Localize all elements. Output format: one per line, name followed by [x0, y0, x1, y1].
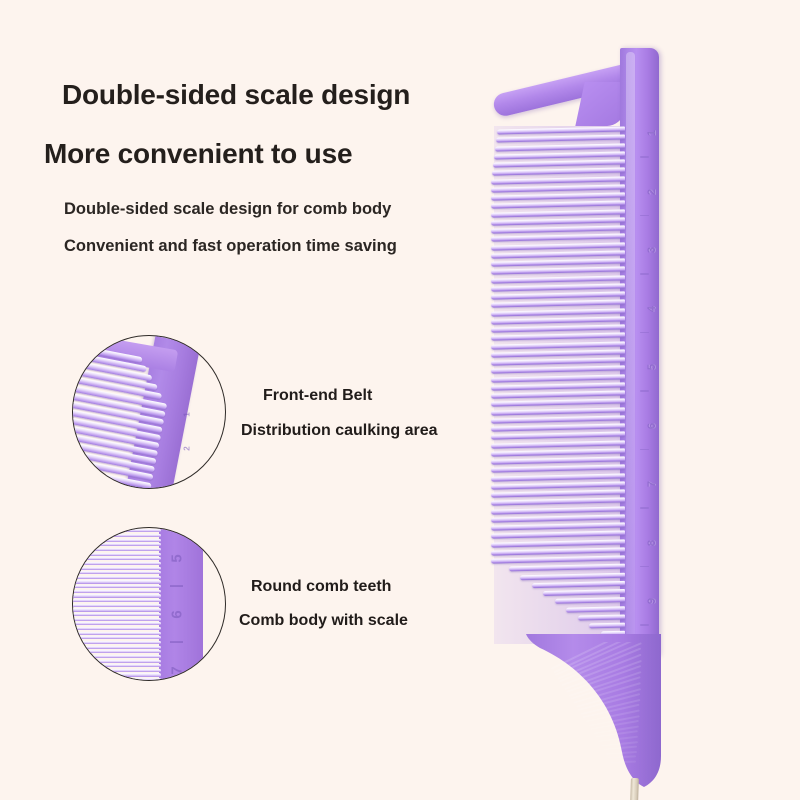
comb-tooth: [493, 159, 625, 167]
inset-round-comb-teeth: 5|6|7|: [72, 527, 226, 681]
comb-fine-tooth-closeup: [72, 669, 161, 672]
ruler-number: 4: [646, 306, 658, 312]
comb-fine-tooth-closeup: [72, 585, 161, 588]
ruler-number-closeup: 7: [169, 666, 186, 674]
comb-tooth: [495, 143, 625, 151]
comb-tooth: [496, 135, 625, 143]
comb-teeth: [497, 128, 625, 641]
comb-fine-tooth-closeup: [72, 534, 161, 537]
comb-fine-tooth-closeup: [72, 632, 161, 635]
callout-round-comb-teeth-subtitle: Comb body with scale: [239, 612, 408, 630]
comb-tooth: [491, 390, 625, 398]
callout-round-comb-teeth-title: Round comb teeth: [251, 578, 391, 596]
tail-ridge: [608, 756, 636, 759]
ruler-number-closeup: 3: [183, 480, 192, 484]
comb-tooth: [491, 308, 625, 316]
comb-tooth: [497, 126, 625, 134]
comb-tooth: [491, 201, 625, 209]
comb-tooth: [491, 456, 625, 464]
comb-fine-tooth-closeup: [72, 636, 161, 639]
comb-fine-tooth-closeup: [72, 539, 161, 542]
comb-tooth: [491, 539, 625, 547]
comb-tooth: [491, 267, 625, 275]
comb-tooth: [491, 522, 625, 530]
comb-tooth: [491, 250, 625, 258]
comb-fine-tooth-closeup: [72, 599, 161, 602]
ruler-number-closeup: 5: [169, 554, 186, 562]
comb-fine-tooth-closeup: [72, 608, 161, 611]
subtitle-line1: Double-sided scale design for comb body: [64, 200, 391, 219]
comb-tooth: [491, 349, 625, 357]
comb-tooth: [491, 506, 625, 514]
comb-tooth: [491, 432, 625, 440]
ruler-tick: [640, 390, 649, 392]
comb-tooth: [555, 597, 625, 604]
comb-fine-tooth-closeup: [72, 571, 161, 574]
comb-tooth: [491, 489, 625, 497]
tail-ridge: [557, 642, 641, 679]
comb-fine-teeth-closeup: [72, 527, 161, 681]
ruler-number-closeup: 1: [183, 412, 192, 416]
comb-tooth: [491, 258, 625, 266]
comb-tooth: [491, 242, 625, 250]
comb-tooth: [491, 399, 625, 407]
comb-tooth: [492, 168, 625, 176]
comb-tooth: [491, 547, 625, 555]
comb-tooth: [491, 324, 625, 332]
comb-tooth: [491, 333, 625, 341]
ruler-number-closeup: 2: [183, 446, 192, 450]
comb-tooth: [494, 151, 625, 159]
comb-tooth: [491, 415, 625, 423]
comb-fine-tooth-closeup: [72, 673, 161, 676]
comb-metal-pin: [629, 778, 639, 800]
comb-tooth: [491, 514, 625, 522]
ruler-number: 5: [646, 364, 658, 370]
comb-fine-tooth-closeup: [72, 594, 161, 597]
comb-tooth: [491, 300, 625, 308]
ruler-tick: [640, 332, 649, 334]
comb-fine-tooth-closeup: [72, 529, 161, 532]
comb-tooth: [491, 275, 625, 283]
ruler-number: 9: [646, 598, 658, 604]
inset-front-end-belt-image: 123: [73, 336, 225, 488]
comb-fine-tooth-closeup: [72, 664, 161, 667]
ruler-number: 6: [646, 423, 658, 429]
comb-tooth: [491, 531, 625, 539]
subtitle-line2: Convenient and fast operation time savin…: [64, 237, 397, 256]
comb-tooth: [491, 498, 625, 506]
comb-fine-tooth-closeup: [72, 660, 161, 663]
inset-front-end-belt: 123: [72, 335, 226, 489]
ruler-tick-closeup: |: [167, 584, 183, 588]
comb-fine-tooth-closeup: [72, 650, 161, 653]
comb-fine-tooth-closeup: [72, 576, 161, 579]
comb-fine-tooth-closeup: [72, 553, 161, 556]
comb-tooth: [491, 440, 625, 448]
comb-fine-tooth-closeup: [72, 527, 161, 528]
comb-tooth: [491, 465, 625, 473]
ruler-tick: [640, 624, 649, 626]
product-infographic: Double-sided scale design More convenien…: [0, 0, 800, 800]
ruler-tick: [640, 215, 649, 217]
comb-fine-tooth-closeup: [72, 590, 161, 593]
comb-tooth: [491, 473, 625, 481]
comb-tooth: [491, 407, 625, 415]
comb-fine-tooth-closeup: [72, 618, 161, 621]
comb-fine-tooth-closeup: [72, 655, 161, 658]
page-title-line2: More convenient to use: [44, 138, 352, 170]
comb-ruler-scale: 123456789: [620, 48, 659, 656]
ruler-number: 3: [646, 247, 658, 253]
comb-tooth: [491, 481, 625, 489]
comb-fine-tooth-closeup: [72, 613, 161, 616]
comb-tail-ridges: [546, 642, 650, 770]
comb-fine-tooth-closeup: [72, 548, 161, 551]
comb-product-image: 123456789: [470, 30, 700, 800]
comb-fine-tooth-closeup: [72, 604, 161, 607]
comb-tooth: [532, 581, 626, 588]
comb-tooth: [491, 176, 625, 184]
comb-tooth: [491, 423, 625, 431]
comb-tooth: [508, 564, 625, 572]
comb-tooth: [491, 357, 625, 365]
inset-round-comb-teeth-image: 5|6|7|: [73, 528, 225, 680]
comb-fine-tooth-closeup: [72, 641, 161, 644]
tail-ridge: [603, 746, 637, 750]
comb-tooth: [491, 448, 625, 456]
comb-fine-tooth-closeup: [72, 562, 161, 565]
ruler-tick-closeup: |: [167, 640, 183, 644]
comb-tooth: [491, 291, 625, 299]
comb-fine-tooth-closeup: [72, 678, 161, 681]
ruler-number: 7: [646, 481, 658, 487]
ruler-tick: [640, 449, 649, 451]
ruler-number: 1: [646, 130, 658, 136]
tail-ridge: [611, 761, 636, 763]
comb-tooth: [491, 382, 625, 390]
comb-fine-tooth-closeup: [72, 622, 161, 625]
comb-tooth: [520, 572, 625, 580]
ruler-tick: [640, 273, 649, 275]
comb-fine-tooth-closeup: [72, 627, 161, 630]
comb-tooth: [491, 225, 625, 233]
ruler-tick: [640, 156, 649, 158]
comb-tooth: [491, 555, 625, 563]
callout-front-end-belt-title: Front-end Belt: [263, 387, 372, 405]
comb-tooth: [491, 374, 625, 382]
comb-tooth: [491, 209, 625, 217]
tail-ridge: [606, 751, 637, 755]
comb-tooth: [491, 283, 625, 291]
comb-tail: [526, 630, 661, 790]
comb-tooth: [578, 614, 625, 620]
comb-fine-tooth-closeup: [72, 543, 161, 546]
comb-tooth: [491, 192, 625, 200]
page-title-line1: Double-sided scale design: [62, 79, 410, 111]
comb-tooth: [491, 217, 625, 225]
comb-fine-tooth-closeup: [72, 646, 161, 649]
comb-fine-tooth-closeup: [72, 557, 161, 560]
comb-tooth: [491, 316, 625, 324]
ruler-number-closeup: 6: [169, 610, 186, 618]
comb-tooth: [491, 184, 625, 192]
ruler-number: 8: [646, 540, 658, 546]
ruler-tick: [640, 507, 649, 509]
comb-tooth: [491, 366, 625, 374]
comb-tooth: [491, 341, 625, 349]
callout-front-end-belt-subtitle: Distribution caulking area: [241, 422, 437, 440]
ruler-tick: [640, 566, 649, 568]
ruler-number: 2: [646, 189, 658, 195]
comb-fine-tooth-closeup: [72, 580, 161, 583]
comb-spine-ruler-closeup: [159, 527, 203, 681]
comb-fine-tooth-closeup: [72, 567, 161, 570]
comb-tooth: [566, 606, 625, 613]
comb-tooth: [543, 589, 625, 596]
comb-tooth: [491, 234, 625, 242]
